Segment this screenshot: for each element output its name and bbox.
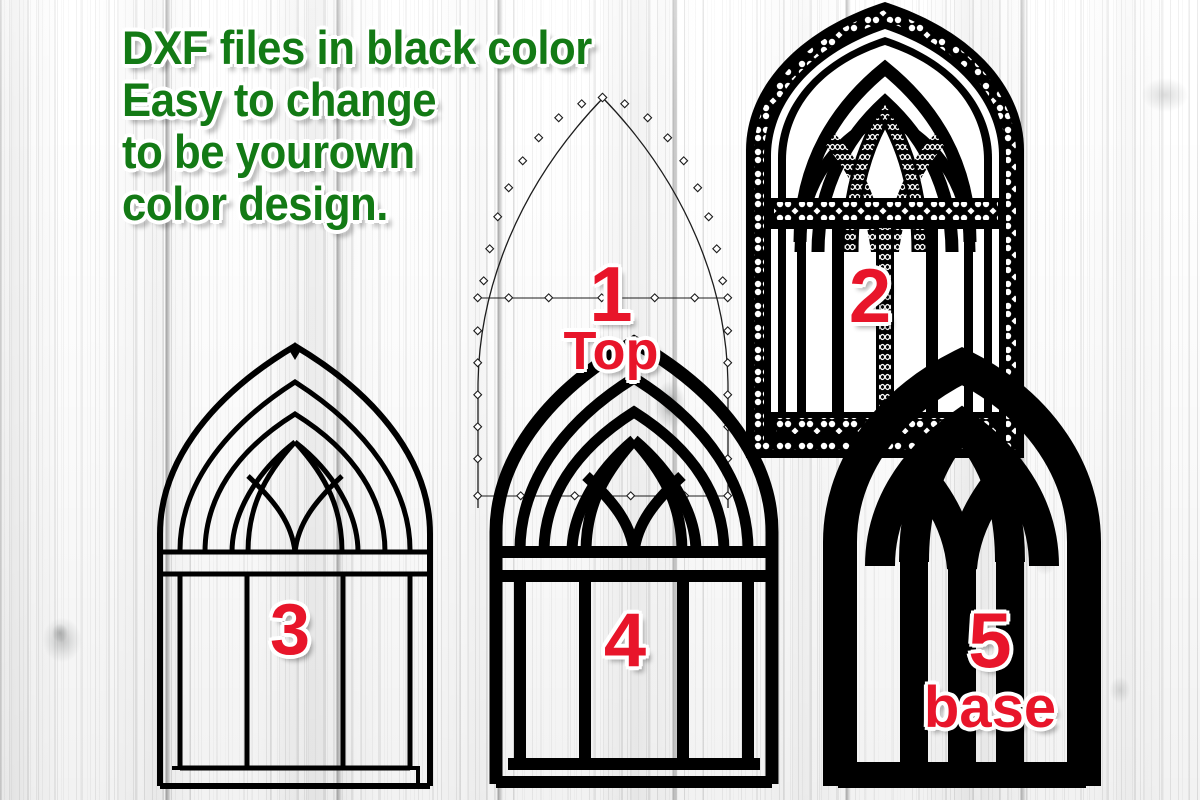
label-window-2: 2: [830, 188, 910, 334]
poster-canvas: DXF files in black color Easy to change …: [0, 0, 1200, 800]
label-number-4: 4: [604, 598, 646, 683]
label-window-5: 5 base: [900, 528, 1080, 800]
label-caption-base: base: [900, 680, 1080, 736]
label-window-4: 4: [585, 532, 665, 678]
window-3-apex-finial: [289, 342, 301, 360]
label-window-3: 3: [250, 527, 330, 665]
label-caption-top: Top: [546, 326, 676, 378]
label-number-2: 2: [849, 254, 891, 339]
label-number-3: 3: [270, 590, 310, 670]
label-number-5: 5: [968, 596, 1011, 684]
window-4-sill: [496, 764, 772, 782]
label-window-1: 1 Top: [546, 182, 676, 452]
